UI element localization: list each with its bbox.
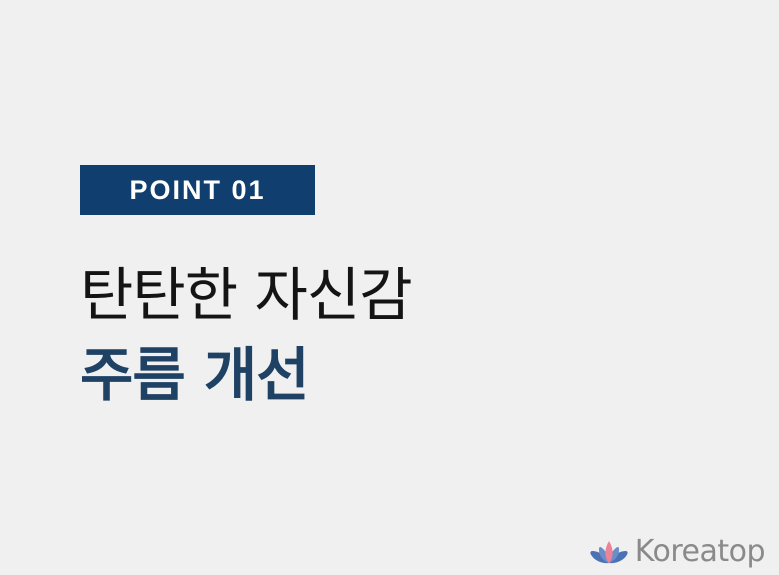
point-badge: POINT 01 bbox=[80, 165, 315, 215]
point-badge-label: POINT 01 bbox=[129, 177, 265, 204]
lotus-icon bbox=[589, 537, 629, 567]
headline-line-2: 주름 개선 bbox=[80, 342, 700, 408]
brand-logo: Koreatop bbox=[589, 537, 765, 567]
slide-canvas: POINT 01 탄탄한 자신감 주름 개선 Koreatop bbox=[0, 0, 779, 575]
headline-block: 탄탄한 자신감 주름 개선 bbox=[80, 262, 700, 408]
brand-name: Koreatop bbox=[635, 537, 765, 567]
headline-line-1: 탄탄한 자신감 bbox=[80, 262, 700, 328]
